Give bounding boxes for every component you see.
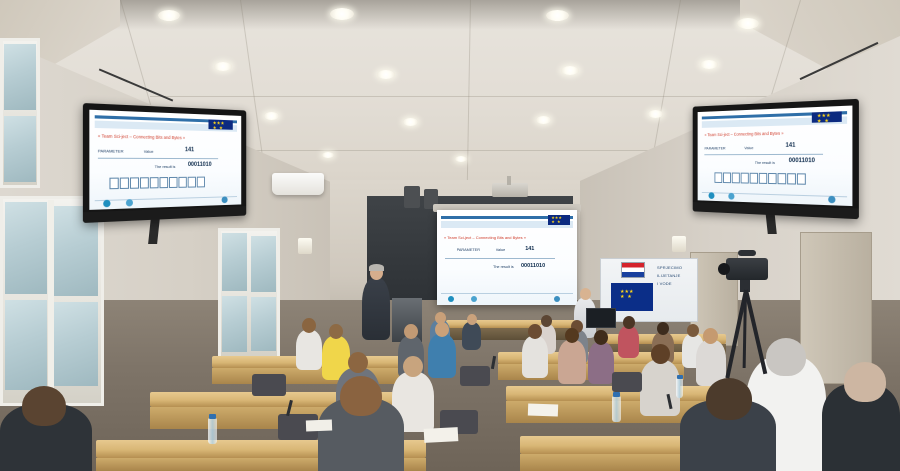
slide-footer	[702, 192, 847, 197]
water-bottle	[208, 418, 217, 444]
audience-person	[558, 340, 586, 384]
ceiling-light	[377, 70, 395, 79]
audience-person	[296, 330, 322, 370]
audience-head	[766, 338, 806, 376]
bottle-cap	[613, 392, 620, 397]
audience-head	[403, 356, 423, 377]
slide-label-parameter: PARAMETER	[457, 248, 480, 252]
slide-logo-icon	[103, 200, 110, 208]
ceiling-light	[648, 110, 663, 118]
slide-rule	[98, 158, 218, 159]
slide-label-parameter: PARAMETER	[98, 148, 124, 153]
water-bottle	[676, 378, 683, 398]
audience-head	[706, 378, 752, 420]
ceiling-light	[561, 66, 579, 75]
ceiling-light	[158, 10, 180, 21]
audience-head	[651, 344, 670, 364]
croatian-flag-icon	[621, 262, 645, 278]
audience-head	[528, 324, 542, 339]
chair-back	[460, 366, 490, 386]
ceiling-light	[455, 156, 467, 162]
camera-lens-icon	[718, 263, 730, 275]
window-glass	[4, 116, 36, 182]
wall-sconce-right	[672, 236, 686, 252]
slide-label-value: Value	[496, 248, 505, 252]
camera-body	[726, 258, 768, 280]
paper-sheet	[424, 427, 459, 443]
audience-head	[340, 376, 382, 416]
camera-microphone	[738, 250, 756, 256]
tv-left-screen: ★★★★ ★ « Team Sci-ject – Connecting Bits…	[89, 110, 241, 210]
slide-footer	[441, 293, 573, 294]
chair-back	[612, 372, 642, 392]
audience-head	[623, 316, 635, 329]
audience-head	[329, 324, 343, 339]
slide-rule	[704, 154, 823, 155]
slide-logo-icon	[471, 296, 477, 302]
chair-back	[252, 374, 286, 396]
slide-logo-icon	[126, 199, 133, 206]
ceiling-light	[737, 18, 759, 29]
audience-head	[703, 328, 718, 344]
slide-logo-icon	[448, 296, 454, 302]
slide-label-result: The result is	[155, 164, 176, 169]
banner-line-2: ILIJETANJE	[657, 273, 681, 278]
audience-person	[640, 360, 680, 416]
eu-flag-icon: ★★★★ ★	[548, 215, 570, 225]
audience-person	[428, 334, 456, 378]
projection-screen: ★★★★ ★ « Team Sci-ject – Connecting Bits…	[437, 210, 577, 305]
presenter-hair	[369, 264, 384, 271]
slide-title: « Team Sci-ject – Connecting Bits and By…	[444, 235, 526, 240]
paper-sheet	[306, 420, 332, 432]
audience-person	[618, 326, 639, 358]
banner-line-1: SPRJECIMO	[657, 265, 682, 270]
slide-value-number: 141	[525, 246, 534, 252]
slide-footer	[94, 197, 237, 202]
slide-rule	[445, 258, 554, 259]
audience-head	[687, 324, 699, 337]
slide-label-value: Value	[744, 145, 753, 150]
ceiling-seam	[150, 96, 770, 97]
audience-head	[435, 322, 449, 337]
slide-title: « Team Sci-ject – Connecting Bits and By…	[98, 133, 185, 140]
window-glass	[5, 300, 47, 390]
ceiling-light	[322, 152, 334, 158]
audience-head	[302, 318, 316, 333]
wall-tv-right: ★★★★ ★ « Team Sci-ject – Connecting Bits…	[693, 99, 859, 219]
audience-person	[522, 336, 548, 378]
slide-result-bits: 00011010	[521, 263, 545, 269]
audience-head	[657, 322, 669, 335]
audience-head	[541, 315, 552, 327]
air-conditioner	[272, 173, 324, 195]
audience-head	[348, 352, 368, 373]
bottle-cap	[209, 414, 216, 419]
audience-person	[462, 322, 481, 350]
water-bottle	[612, 396, 621, 422]
bottle-cap	[677, 375, 683, 379]
slide-logo-icon	[222, 196, 228, 203]
eu-flag-icon: ★★★★ ★	[611, 283, 653, 311]
ceiling-seam	[250, 150, 670, 151]
slide-value-number: 141	[185, 147, 194, 153]
presenter-body	[362, 278, 390, 340]
wall-sconce-left	[298, 238, 312, 254]
banner-line-3: I VODE	[657, 281, 672, 286]
ceiling-light	[546, 10, 569, 21]
slide-logo-icon	[554, 296, 560, 302]
ceiling-light	[330, 8, 354, 20]
slide-label-parameter: PARAMETER	[704, 145, 725, 150]
assistant-head	[580, 288, 591, 300]
slide-value-number: 141	[786, 142, 796, 148]
ceiling-projector	[492, 183, 528, 197]
slide-label-value: Value	[144, 148, 154, 153]
window-glass	[4, 44, 36, 110]
paper-sheet	[528, 403, 558, 416]
slide-label-result: The result is	[493, 265, 514, 269]
audience-person	[588, 342, 614, 384]
photo-scene: ★★★★ ★ « Team Sci-ject – Connecting Bits…	[0, 0, 900, 471]
ceiling-light	[536, 116, 551, 124]
ceiling-speaker-left	[404, 186, 420, 208]
slide-result-bits: 00011010	[789, 158, 815, 164]
slide-right: ★★★★ ★ « Team Sci-ject – Connecting Bits…	[698, 106, 853, 207]
tv-right-screen: ★★★★ ★ « Team Sci-ject – Connecting Bits…	[698, 106, 853, 207]
slide-logo-icon	[728, 193, 734, 200]
slide-bit-cells	[110, 176, 206, 189]
slide-left: ★★★★ ★ « Team Sci-ject – Connecting Bits…	[89, 110, 241, 210]
eu-stars-icon: ★★★★ ★	[213, 121, 225, 131]
window-glass	[5, 202, 47, 294]
window-glass	[222, 233, 247, 291]
ceiling-light	[214, 62, 232, 71]
wall-tv-left: ★★★★ ★ « Team Sci-ject – Connecting Bits…	[83, 103, 246, 223]
audience-head	[467, 314, 477, 325]
eu-flag-icon: ★★★★ ★	[811, 111, 841, 123]
ceiling-light	[264, 112, 279, 120]
slide-logo-icon	[709, 192, 715, 199]
slide-result-bits: 00011010	[188, 162, 212, 168]
eu-stars-icon: ★★★★ ★	[620, 290, 633, 300]
audience-head	[565, 328, 579, 343]
eu-stars-icon: ★★★★ ★	[551, 216, 562, 224]
ceiling-light	[403, 118, 418, 126]
window-glass	[251, 297, 276, 351]
stage-monitor	[586, 308, 616, 328]
slide-logo-icon	[828, 196, 835, 204]
projector-mount	[507, 176, 511, 185]
slide-bit-cells	[714, 172, 806, 184]
audience-head	[844, 362, 886, 402]
audience-head	[404, 324, 418, 339]
slide-projected: ★★★★ ★ « Team Sci-ject – Connecting Bits…	[437, 210, 577, 305]
window-glass	[222, 296, 247, 352]
desk-row-4-left-front	[212, 368, 408, 384]
slide-title: « Team Sci-ject – Connecting Bits and By…	[704, 130, 783, 137]
audience-head	[594, 330, 608, 345]
window-glass	[54, 302, 98, 386]
slide-label-result: The result is	[755, 160, 775, 165]
ceiling-light	[700, 60, 718, 69]
eu-flag-icon: ★★★★ ★	[208, 119, 233, 130]
audience-head	[22, 386, 66, 426]
eu-stars-icon: ★★★★ ★	[817, 113, 831, 124]
window-glass	[251, 236, 276, 292]
